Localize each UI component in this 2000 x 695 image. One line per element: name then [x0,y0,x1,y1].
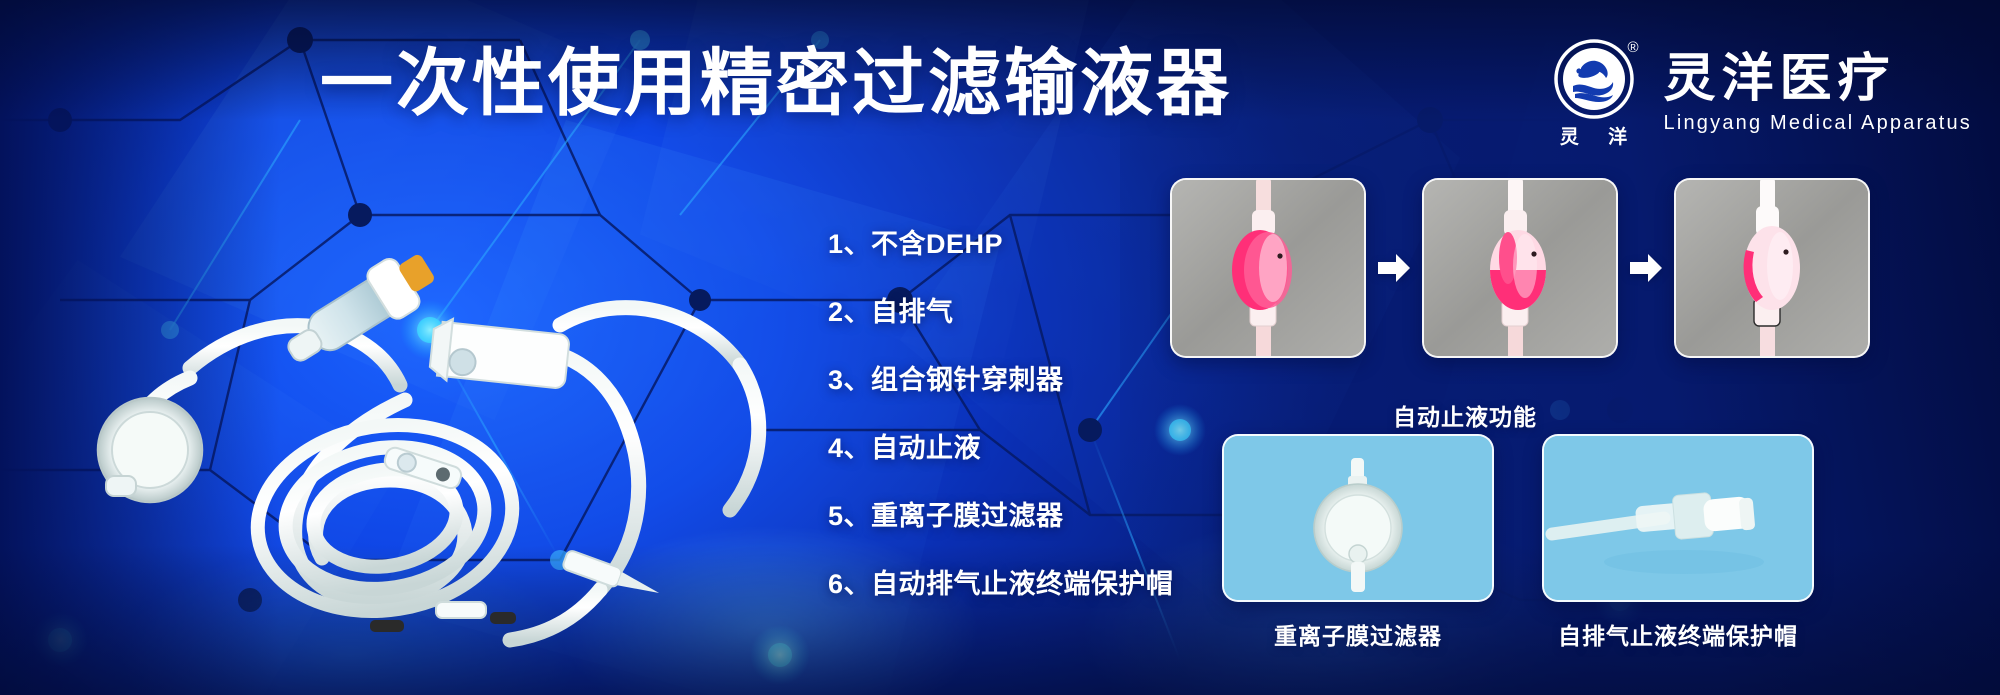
product-image-cap [1542,434,1814,602]
product-card-list: 重离子膜过滤器 自排气止液终端保护帽 [1222,434,1814,651]
feature-item: 2、自排气 [828,290,1158,329]
feature-list: 1、不含DEHP 2、自排气 3、组合钢针穿刺器 4、自动止液 5、重离子膜过滤… [828,222,1158,601]
sequence-caption: 自动止液功能 [1170,398,1760,432]
product-card-cap: 自排气止液终端保护帽 [1542,434,1814,651]
company-name-cn: 灵洋医疗 [1664,52,1972,107]
sequence-arrow-icon [1366,248,1422,288]
product-card-caption: 重离子膜过滤器 [1222,617,1494,651]
sequence-frame-1 [1170,178,1366,358]
feature-item: 6、自动排气止液终端保护帽 [828,562,1158,601]
feature-item: 1、不含DEHP [828,222,1158,261]
feature-item: 4、自动止液 [828,426,1158,465]
sequence-frame-2 [1422,178,1618,358]
registered-mark-icon: ® [1627,40,1638,55]
page-title: 一次性使用精密过滤输液器 [320,47,1232,120]
logo-text: 灵洋医疗 Lingyang Medical Apparatus [1664,52,1972,135]
sequence-arrow-icon [1618,248,1674,288]
hero-product-image [40,150,800,650]
sequence-frame-3 [1674,178,1870,358]
product-card-filter: 重离子膜过滤器 [1222,434,1494,651]
logo-mark: ® 灵 洋 [1546,38,1642,149]
feature-item: 3、组合钢针穿刺器 [828,358,1158,397]
logo-emblem-caption: 灵 洋 [1546,122,1642,149]
product-banner: 一次性使用精密过滤输液器 ® 灵 洋 [0,0,2000,695]
product-card-caption: 自排气止液终端保护帽 [1542,617,1814,651]
lingyang-circular-emblem-icon: ® [1553,38,1635,120]
auto-stop-sequence [1170,178,1870,358]
company-name-en: Lingyang Medical Apparatus [1664,111,1972,135]
product-image-filter [1222,434,1494,602]
feature-item: 5、重离子膜过滤器 [828,494,1158,533]
brand-logo: ® 灵 洋 灵洋医疗 Lingyang Medical Apparatus [1546,38,1972,149]
